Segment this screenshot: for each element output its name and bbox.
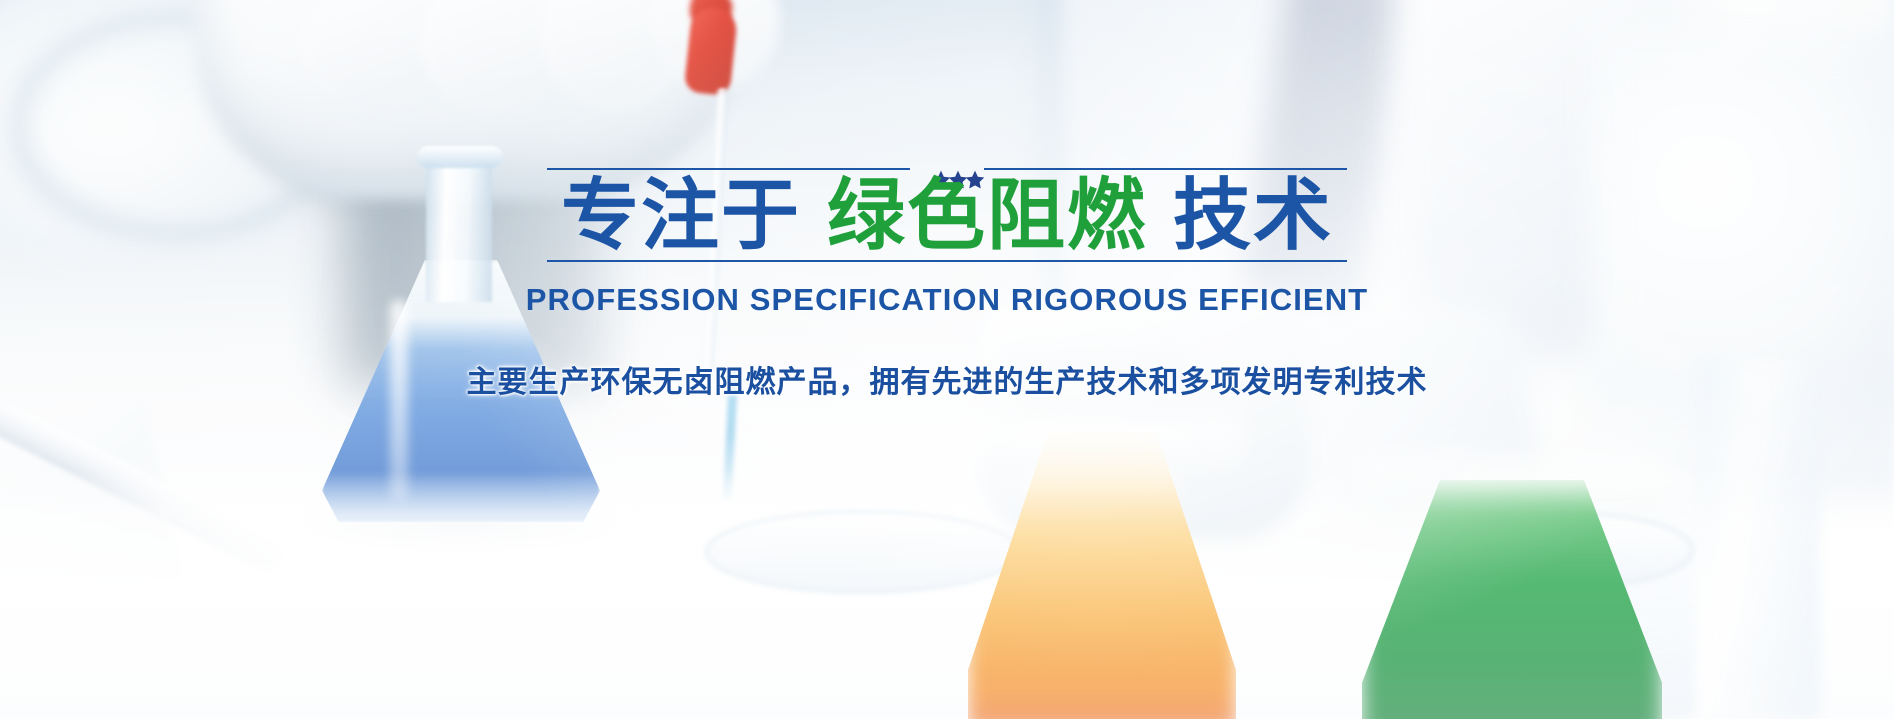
subtitle-english: PROFESSION SPECIFICATION RIGOROUS EFFICI… (526, 282, 1368, 318)
banner-content: 专注于 绿色阻燃 技术 PROFESSION SPECIFICATION RIG… (0, 0, 1894, 719)
headline-part-technology: 技术 (1173, 176, 1333, 256)
bottom-divider (547, 260, 1347, 262)
page-title: 专注于 绿色阻燃 技术 (561, 176, 1333, 256)
divider-line-right (984, 168, 1347, 170)
headline-part-focus: 专注于 (561, 176, 801, 256)
divider-line-left (547, 168, 910, 170)
tagline-chinese: 主要生产环保无卤阻燃产品，拥有先进的生产技术和多项发明专利技术 (467, 357, 1428, 401)
headline-part-green-flame-retardant: 绿色阻燃 (827, 176, 1147, 256)
top-divider (547, 168, 1347, 170)
hero-banner: 专注于 绿色阻燃 技术 PROFESSION SPECIFICATION RIG… (0, 0, 1894, 719)
